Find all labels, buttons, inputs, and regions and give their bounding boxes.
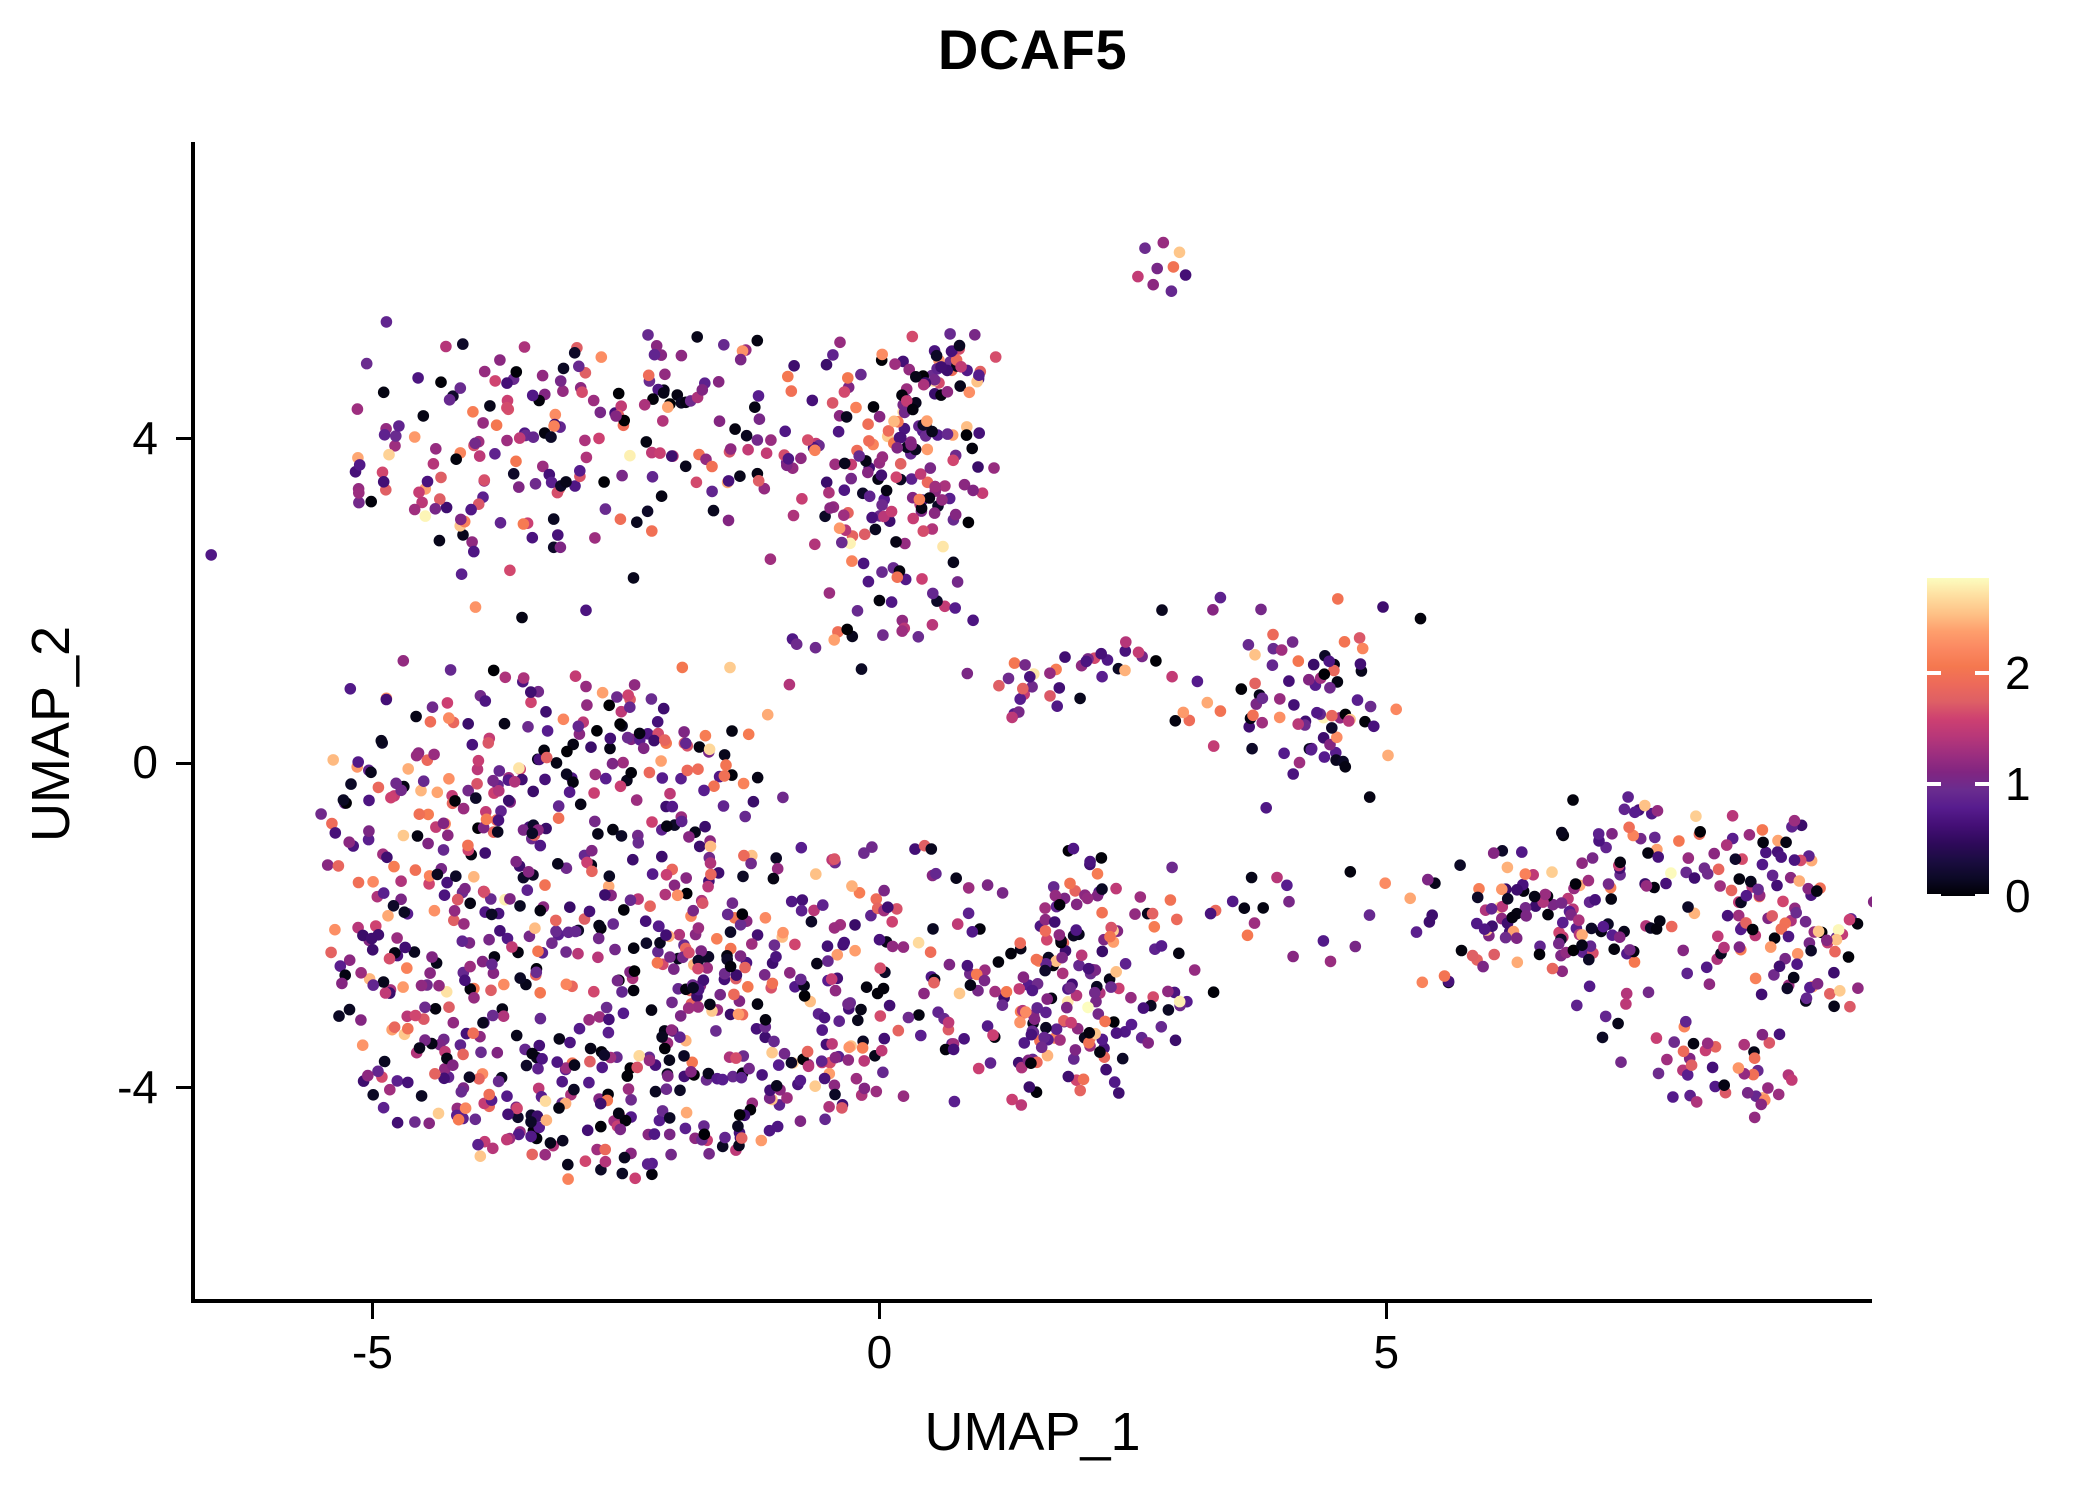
scatter-point: [1790, 907, 1802, 919]
scatter-point: [782, 371, 794, 383]
scatter-point: [823, 1101, 835, 1113]
scatter-point: [489, 448, 501, 460]
scatter-point: [508, 468, 520, 480]
scatter-point: [557, 385, 569, 397]
scatter-point: [1622, 791, 1634, 803]
scatter-point: [1511, 884, 1523, 896]
scatter-point: [735, 919, 747, 931]
scatter-point: [777, 927, 789, 939]
scatter-point: [338, 794, 350, 806]
scatter-point: [352, 756, 364, 768]
scatter-point: [629, 1173, 641, 1185]
scatter-point: [378, 976, 390, 988]
scatter-point: [555, 375, 567, 387]
scatter-point: [687, 905, 699, 917]
scatter-point: [729, 423, 741, 435]
scatter-point: [625, 894, 637, 906]
scatter-point: [852, 1015, 864, 1027]
scatter-point: [788, 360, 800, 372]
scatter-point: [409, 1116, 421, 1128]
scatter-point: [1014, 693, 1026, 705]
scatter-point: [1041, 993, 1053, 1005]
scatter-point: [574, 1023, 586, 1035]
scatter-point: [1247, 710, 1259, 722]
scatter-point: [929, 481, 941, 493]
scatter-point: [392, 1075, 404, 1087]
scatter-point: [432, 869, 444, 881]
scatter-point: [1165, 894, 1177, 906]
scatter-point: [475, 1150, 487, 1162]
scatter-point: [927, 588, 939, 600]
scatter-point: [428, 458, 440, 470]
scatter-point: [1623, 822, 1635, 834]
scatter-point: [664, 1054, 676, 1066]
scatter-point: [1694, 826, 1706, 838]
scatter-point: [795, 1075, 807, 1087]
scatter-point: [874, 934, 886, 946]
scatter-point: [391, 932, 403, 944]
scatter-point: [1158, 237, 1170, 249]
scatter-point: [680, 461, 692, 473]
scatter-point: [501, 377, 513, 389]
scatter-point: [1096, 907, 1108, 919]
scatter-point: [1750, 973, 1762, 985]
scatter-point: [411, 750, 423, 762]
scatter-point: [754, 413, 766, 425]
scatter-point: [1507, 912, 1519, 924]
scatter-point: [1236, 683, 1248, 695]
scatter-point: [925, 946, 937, 958]
scatter-point: [1026, 1029, 1038, 1041]
scatter-point: [1074, 1085, 1086, 1097]
scatter-point: [487, 1143, 499, 1155]
scatter-point: [819, 1114, 831, 1126]
scatter-point: [1668, 1036, 1680, 1048]
x-tick-mark: [371, 1303, 374, 1319]
scatter-point: [575, 799, 587, 811]
scatter-point: [345, 683, 357, 695]
scatter-point: [1713, 864, 1725, 876]
scatter-point: [1603, 878, 1615, 890]
scatter-point: [1084, 856, 1096, 868]
scatter-point: [1031, 954, 1043, 966]
scatter-point: [1063, 1071, 1075, 1083]
scatter-point: [413, 487, 425, 499]
scatter-point: [1593, 828, 1605, 840]
scatter-point: [1615, 1056, 1627, 1068]
scatter-point: [401, 962, 413, 974]
scatter-point: [952, 576, 964, 588]
scatter-point: [414, 1042, 426, 1054]
scatter-point: [1834, 985, 1846, 997]
scatter-point: [378, 1102, 390, 1114]
scatter-point: [569, 347, 581, 359]
scatter-point: [1757, 824, 1769, 836]
scatter-point: [819, 1012, 831, 1024]
scatter-point: [640, 915, 652, 927]
scatter-point: [855, 1004, 867, 1016]
scatter-point: [952, 918, 964, 930]
scatter-point: [499, 718, 511, 730]
scatter-point: [474, 450, 486, 462]
scatter-point: [734, 1109, 746, 1121]
scatter-point: [723, 515, 735, 527]
scatter-point: [1762, 1082, 1774, 1094]
scatter-point: [958, 1033, 970, 1045]
scatter-point: [459, 883, 471, 895]
scatter-point: [691, 331, 703, 343]
scatter-point: [861, 981, 873, 993]
scatter-point: [1120, 958, 1132, 970]
scatter-point: [1283, 675, 1295, 687]
scatter-point: [881, 485, 893, 497]
scatter-point: [736, 1072, 748, 1084]
scatter-point: [1576, 929, 1588, 941]
scatter-point: [1040, 1007, 1052, 1019]
scatter-point: [381, 694, 393, 706]
scatter-point: [381, 316, 393, 328]
scatter-point: [664, 1112, 676, 1124]
scatter-point: [601, 1002, 613, 1014]
scatter-point: [1255, 604, 1267, 616]
scatter-point: [569, 1059, 581, 1071]
scatter-point: [504, 565, 516, 577]
scatter-point: [345, 778, 357, 790]
scatter-point: [1379, 877, 1391, 889]
scatter-point: [950, 509, 962, 521]
scatter-point: [330, 827, 342, 839]
scatter-point: [973, 1063, 985, 1075]
scatter-point: [410, 864, 422, 876]
scatter-point: [1598, 921, 1610, 933]
scatter-point: [797, 894, 809, 906]
scatter-point: [1556, 897, 1568, 909]
scatter-point: [864, 491, 876, 503]
scatter-point: [1678, 1046, 1690, 1058]
scatter-point: [1828, 967, 1840, 979]
scatter-point: [1653, 1068, 1665, 1080]
scatter-point: [997, 999, 1009, 1011]
x-tick-label: 5: [1286, 1329, 1486, 1375]
scatter-point: [600, 1156, 612, 1168]
scatter-point: [895, 432, 907, 444]
scatter-point: [705, 841, 717, 853]
scatter-point: [1652, 805, 1664, 817]
scatter-point: [1215, 592, 1227, 604]
scatter-point: [1061, 1002, 1073, 1014]
scatter-point: [527, 532, 539, 544]
scatter-point: [660, 889, 672, 901]
scatter-point: [1534, 949, 1546, 961]
scatter-point: [433, 1108, 445, 1120]
scatter-point: [502, 1109, 514, 1121]
scatter-point: [1120, 636, 1132, 648]
scatter-point: [966, 443, 978, 455]
scatter-point: [1673, 835, 1685, 847]
scatter-point: [1025, 1057, 1037, 1069]
scatter-point: [373, 782, 385, 794]
scatter-point: [649, 349, 661, 361]
scatter-point: [944, 959, 956, 971]
scatter-point: [1040, 925, 1052, 937]
scatter-point: [1641, 880, 1653, 892]
scatter-point: [1744, 829, 1756, 841]
scatter-point: [727, 897, 739, 909]
scatter-point: [1044, 690, 1056, 702]
scatter-point: [955, 361, 967, 373]
scatter-point: [704, 999, 716, 1011]
scatter-point: [414, 808, 426, 820]
scatter-point: [738, 778, 750, 790]
scatter-point: [603, 1014, 615, 1026]
scatter-point: [694, 741, 706, 753]
scatter-point: [1294, 757, 1306, 769]
scatter-point: [967, 485, 979, 497]
scatter-point: [1084, 1027, 1096, 1039]
scatter-point: [693, 922, 705, 934]
scatter-point: [427, 701, 439, 713]
scatter-point: [1791, 958, 1803, 970]
scatter-point: [355, 1014, 367, 1026]
scatter-point: [628, 572, 640, 584]
scatter-point: [1249, 678, 1261, 690]
scatter-point: [488, 665, 500, 677]
scatter-point: [440, 341, 452, 353]
scatter-point: [694, 841, 706, 853]
scatter-point: [493, 785, 505, 797]
scatter-point: [1271, 872, 1283, 884]
scatter-point: [830, 985, 842, 997]
scatter-point: [834, 337, 846, 349]
scatter-point: [536, 1053, 548, 1065]
scatter-point: [772, 1121, 784, 1133]
scatter-point: [789, 939, 801, 951]
scatter-point: [963, 517, 975, 529]
scatter-point: [420, 510, 432, 522]
scatter-point: [409, 431, 421, 443]
scatter-point: [483, 737, 495, 749]
scatter-point: [642, 506, 654, 518]
scatter-point: [540, 706, 552, 718]
scatter-point: [1667, 1091, 1679, 1103]
scatter-point: [599, 889, 611, 901]
scatter-point: [1039, 965, 1051, 977]
scatter-point: [390, 778, 402, 790]
scatter-point: [590, 769, 602, 781]
scatter-point: [843, 1042, 855, 1054]
scatter-point: [718, 800, 730, 812]
scatter-point: [1054, 899, 1066, 911]
scatter-point: [467, 1027, 479, 1039]
scatter-point: [916, 573, 928, 585]
scatter-point: [841, 624, 853, 636]
scatter-point: [961, 429, 973, 441]
scatter-point: [692, 963, 704, 975]
scatter-point: [683, 831, 695, 843]
scatter-point: [1774, 961, 1786, 973]
scatter-point: [580, 1155, 592, 1167]
scatter-point: [581, 452, 593, 464]
scatter-point: [479, 474, 491, 486]
scatter-point: [1844, 1001, 1856, 1013]
scatter-point: [659, 1043, 671, 1055]
scatter-point: [988, 462, 1000, 474]
scatter-point: [459, 975, 471, 987]
scatter-point: [1163, 1004, 1175, 1016]
scatter-point: [464, 898, 476, 910]
scatter-point: [1704, 978, 1716, 990]
scatter-point: [647, 868, 659, 880]
scatter-point: [1246, 743, 1258, 755]
scatter-point: [1365, 701, 1377, 713]
scatter-point: [450, 870, 462, 882]
scatter-point: [748, 796, 760, 808]
scatter-point: [545, 431, 557, 443]
scatter-point: [532, 946, 544, 958]
scatter-point: [583, 1077, 595, 1089]
scatter-point: [656, 851, 668, 863]
scatter-point: [1597, 1032, 1609, 1044]
scatter-point: [597, 687, 609, 699]
scatter-point: [1036, 1042, 1048, 1054]
scatter-point: [1082, 1002, 1094, 1014]
scatter-point: [1813, 926, 1825, 938]
scatter-point: [581, 699, 593, 711]
scatter-point: [625, 1094, 637, 1106]
scatter-point: [665, 1149, 677, 1161]
scatter-point: [438, 844, 450, 856]
scatter-point: [863, 576, 875, 588]
scatter-point: [1583, 954, 1595, 966]
scatter-point: [1718, 1079, 1730, 1091]
scatter-point: [1070, 924, 1082, 936]
scatter-point: [692, 763, 704, 775]
scatter-point: [542, 725, 554, 737]
scatter-point: [647, 471, 659, 483]
scatter-point: [398, 830, 410, 842]
scatter-point: [625, 767, 637, 779]
scatter-point: [1570, 878, 1582, 890]
scatter-point: [833, 426, 845, 438]
scatter-point: [1133, 647, 1145, 659]
scatter-point: [494, 765, 506, 777]
scatter-point: [826, 973, 838, 985]
scatter-point: [379, 429, 391, 441]
scatter-point: [576, 386, 588, 398]
scatter-point: [849, 945, 861, 957]
scatter-point: [967, 926, 979, 938]
scatter-point: [653, 921, 665, 933]
scatter-point: [1516, 846, 1528, 858]
scatter-point: [1100, 1064, 1112, 1076]
scatter-point: [1166, 671, 1178, 683]
scatter-point: [1040, 1022, 1052, 1034]
scatter-point: [623, 1083, 635, 1095]
scatter-point: [1726, 885, 1738, 897]
scatter-point: [418, 410, 430, 422]
scatter-point: [1708, 848, 1720, 860]
scatter-point: [422, 838, 434, 850]
scatter-point: [1811, 885, 1823, 897]
scatter-point: [768, 1036, 780, 1048]
scatter-point: [898, 941, 910, 953]
scatter-point: [652, 716, 664, 728]
scatter-point: [1404, 893, 1416, 905]
scatter-point: [737, 871, 749, 883]
scatter-point: [915, 1030, 927, 1042]
scatter-point: [381, 852, 393, 864]
scatter-point: [418, 775, 430, 787]
scatter-point: [1156, 1021, 1168, 1033]
scatter-point: [588, 986, 600, 998]
scatter-point: [539, 1149, 551, 1161]
x-tick-mark: [878, 1303, 881, 1319]
scatter-point: [990, 351, 1002, 363]
scatter-point: [700, 730, 712, 742]
scatter-point: [1024, 671, 1036, 683]
scatter-point: [615, 1124, 627, 1136]
scatter-point: [399, 906, 411, 918]
scatter-point: [434, 535, 446, 547]
scatter-point: [743, 729, 755, 741]
scatter-point: [484, 400, 496, 412]
scatter-point: [749, 401, 761, 413]
scatter-point: [1029, 1013, 1041, 1025]
scatter-point: [1082, 893, 1094, 905]
plot-panel: [193, 142, 1872, 1301]
scatter-point: [1215, 705, 1227, 717]
scatter-point: [1357, 643, 1369, 655]
scatter-point: [614, 718, 626, 730]
scatter-point: [526, 1149, 538, 1161]
scatter-point: [829, 853, 841, 865]
scatter-point: [631, 1062, 643, 1074]
scatter-point: [742, 444, 754, 456]
scatter-point: [1583, 875, 1595, 887]
scatter-point: [913, 1009, 925, 1021]
scatter-point: [699, 821, 711, 833]
scatter-point: [452, 894, 464, 906]
scatter-point: [333, 1010, 345, 1022]
scatter-point: [918, 988, 930, 1000]
scatter-point: [834, 522, 846, 534]
scatter-point: [1287, 951, 1299, 963]
scatter-point: [664, 1129, 676, 1141]
scatter-point: [1422, 874, 1434, 886]
scatter-point: [1305, 744, 1317, 756]
scatter-point: [480, 695, 492, 707]
scatter-point: [412, 372, 424, 384]
scatter-point: [564, 901, 576, 913]
scatter-point: [648, 735, 660, 747]
scatter-point: [453, 1114, 465, 1126]
scatter-point: [713, 376, 725, 388]
x-axis-title: UMAP_1: [193, 1405, 1872, 1459]
scatter-point: [788, 510, 800, 522]
scatter-point: [430, 503, 442, 515]
scatter-point: [657, 415, 669, 427]
scatter-point: [1097, 946, 1109, 958]
scatter-point: [993, 680, 1005, 692]
scatter-point: [1801, 993, 1813, 1005]
scatter-point: [884, 1000, 896, 1012]
scatter-point: [791, 638, 803, 650]
scatter-point: [1324, 682, 1336, 694]
scatter-point: [711, 933, 723, 945]
scatter-point: [1311, 707, 1323, 719]
scatter-point: [1019, 659, 1031, 671]
scatter-point: [828, 634, 840, 646]
